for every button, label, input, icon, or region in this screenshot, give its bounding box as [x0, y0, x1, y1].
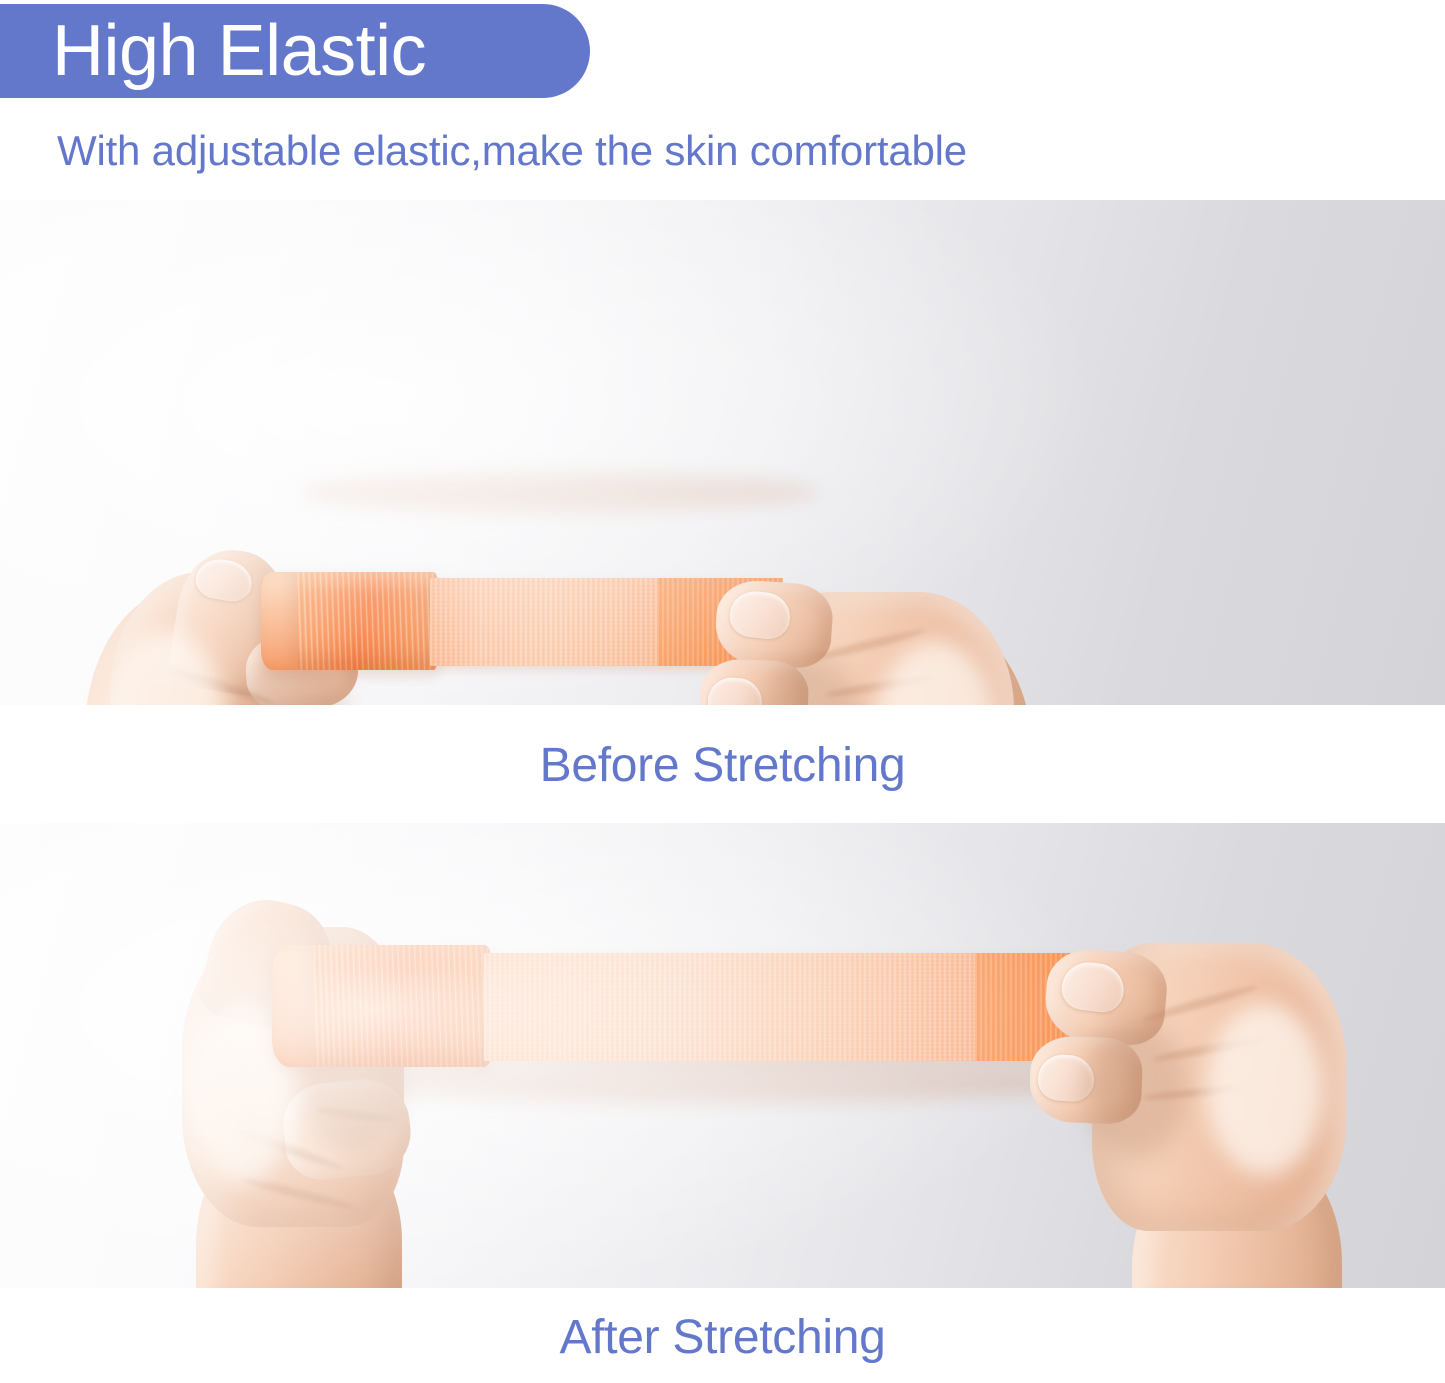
bandage-roll-rim	[261, 572, 297, 670]
photo-before-stretching	[0, 200, 1445, 705]
caption-after-text: After Stretching	[559, 1310, 885, 1366]
right-hand-shadow-after	[1086, 1019, 1186, 1159]
caption-before-text: Before Stretching	[540, 738, 906, 794]
caption-before-stretching: Before Stretching	[0, 705, 1445, 823]
tape-shadow-after	[340, 1061, 1100, 1103]
header-subtitle: With adjustable elastic,make the skin co…	[57, 126, 967, 176]
title-badge: High Elastic	[0, 4, 590, 98]
header-section: High Elastic With adjustable elastic,mak…	[0, 0, 1445, 200]
photo-after-stretching	[0, 823, 1445, 1288]
right-hand-highlight-after	[1206, 1003, 1324, 1175]
tape-shadow	[300, 472, 820, 512]
caption-after-stretching: After Stretching	[0, 1288, 1445, 1383]
bandage-roll-rim-after	[272, 945, 314, 1067]
page-title: High Elastic	[52, 15, 426, 87]
